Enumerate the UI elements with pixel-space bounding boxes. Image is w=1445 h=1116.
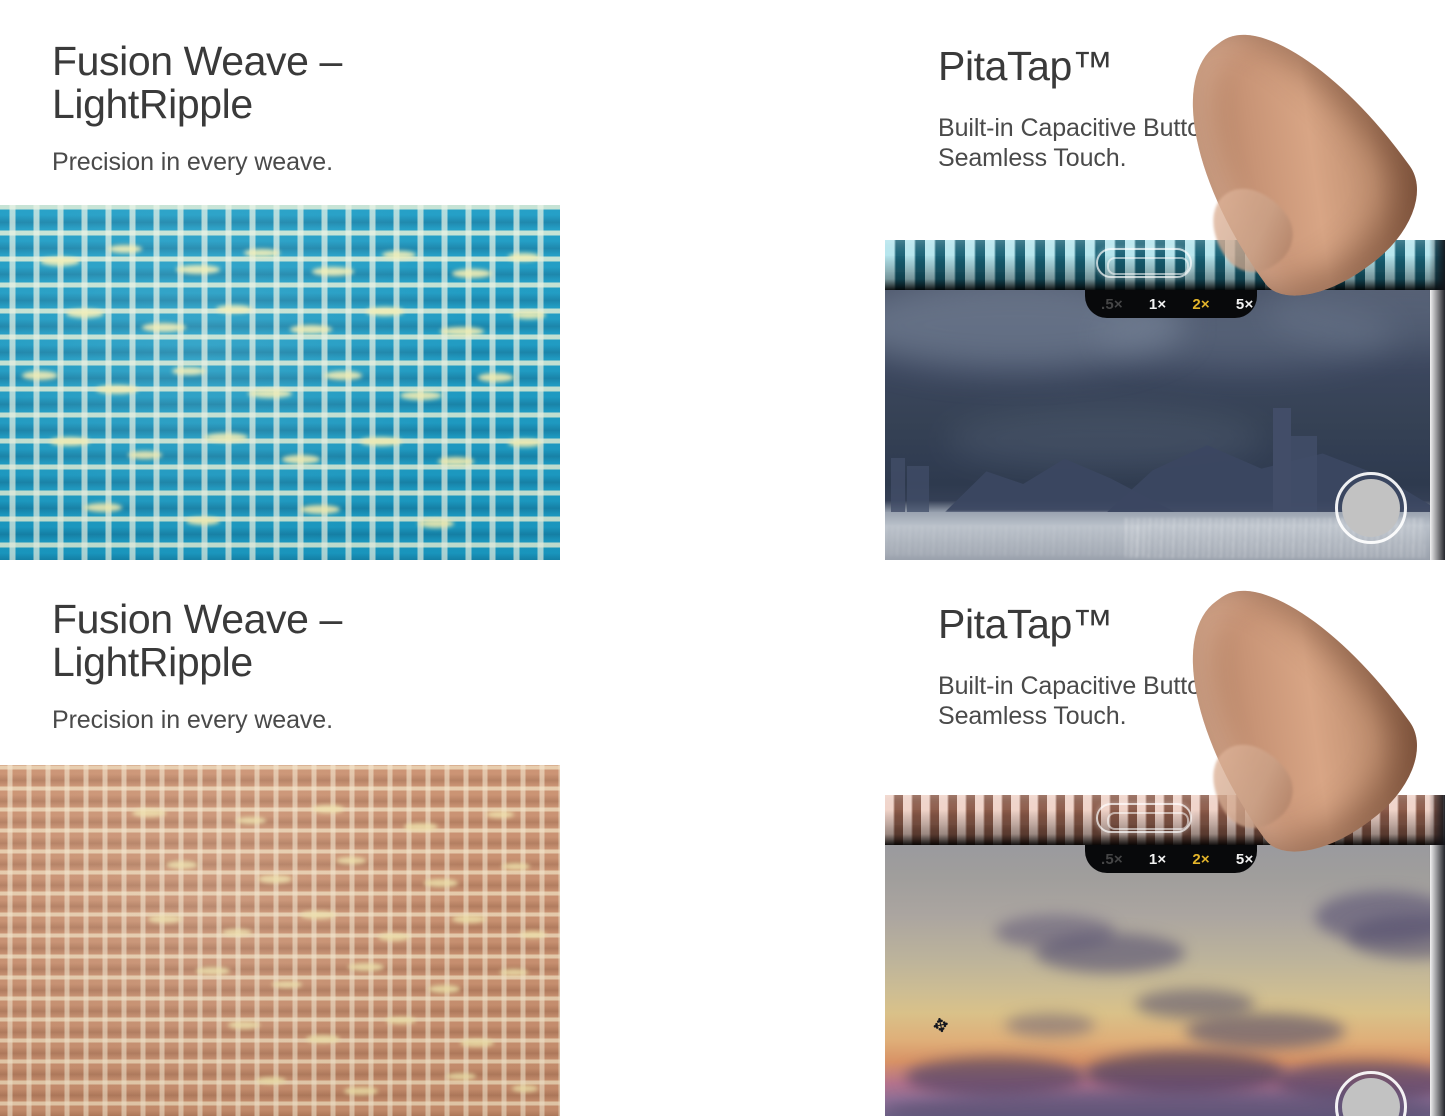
zoom-option-half[interactable]: .5× [1101,296,1123,313]
zoom-option-1x[interactable]: 1× [1149,851,1167,868]
zoom-option-5x[interactable]: 5× [1236,296,1254,313]
skyline-left-building-a [891,458,905,514]
weave-rose-lighting [0,765,560,1116]
fusion-weave-blue-heading: Fusion Weave – LightRipple [52,40,552,126]
fusion-weave-blue-subheading: Precision in every weave. [52,148,552,178]
device-rose-right-bezel [1429,795,1445,1116]
zoom-control-bar-rose[interactable]: .5× 1× 2× 5× [1085,845,1257,873]
weave-blue-lighting [0,205,560,560]
zoom-option-2x[interactable]: 2× [1192,296,1210,313]
zoom-option-5x[interactable]: 5× [1236,851,1254,868]
camera-preview-rose[interactable]: ✥ [885,845,1430,1116]
skyline-left-building-b [907,466,929,514]
skyline-tall-tower [1273,408,1291,514]
zoom-option-half[interactable]: .5× [1101,851,1123,868]
zoom-option-1x[interactable]: 1× [1149,296,1167,313]
section-fusion-weave-blue: Fusion Weave – LightRipple Precision in … [52,40,552,178]
fusion-weave-rose-heading: Fusion Weave – LightRipple [52,598,552,684]
zoom-option-2x[interactable]: 2× [1192,851,1210,868]
product-feature-page: Fusion Weave – LightRipple Precision in … [0,0,1445,1116]
device-blue-right-bezel [1429,240,1445,560]
shutter-inner-disc [1342,1078,1400,1116]
weave-swatch-blue [0,205,560,560]
zoom-control-bar-blue[interactable]: .5× 1× 2× 5× [1085,290,1257,318]
weave-swatch-rose [0,765,560,1116]
section-fusion-weave-rose: Fusion Weave – LightRipple Precision in … [52,598,552,736]
shutter-button-blue[interactable] [1335,472,1407,544]
phone-device-rose: ✥ .5× 1× 2× 5× [885,795,1445,1116]
fusion-weave-rose-subheading: Precision in every weave. [52,706,552,736]
phone-device-blue: .5× 1× 2× 5× [885,240,1445,560]
skyline-block [1291,436,1317,514]
shutter-inner-disc [1342,479,1400,537]
water-ripples [885,526,1145,556]
